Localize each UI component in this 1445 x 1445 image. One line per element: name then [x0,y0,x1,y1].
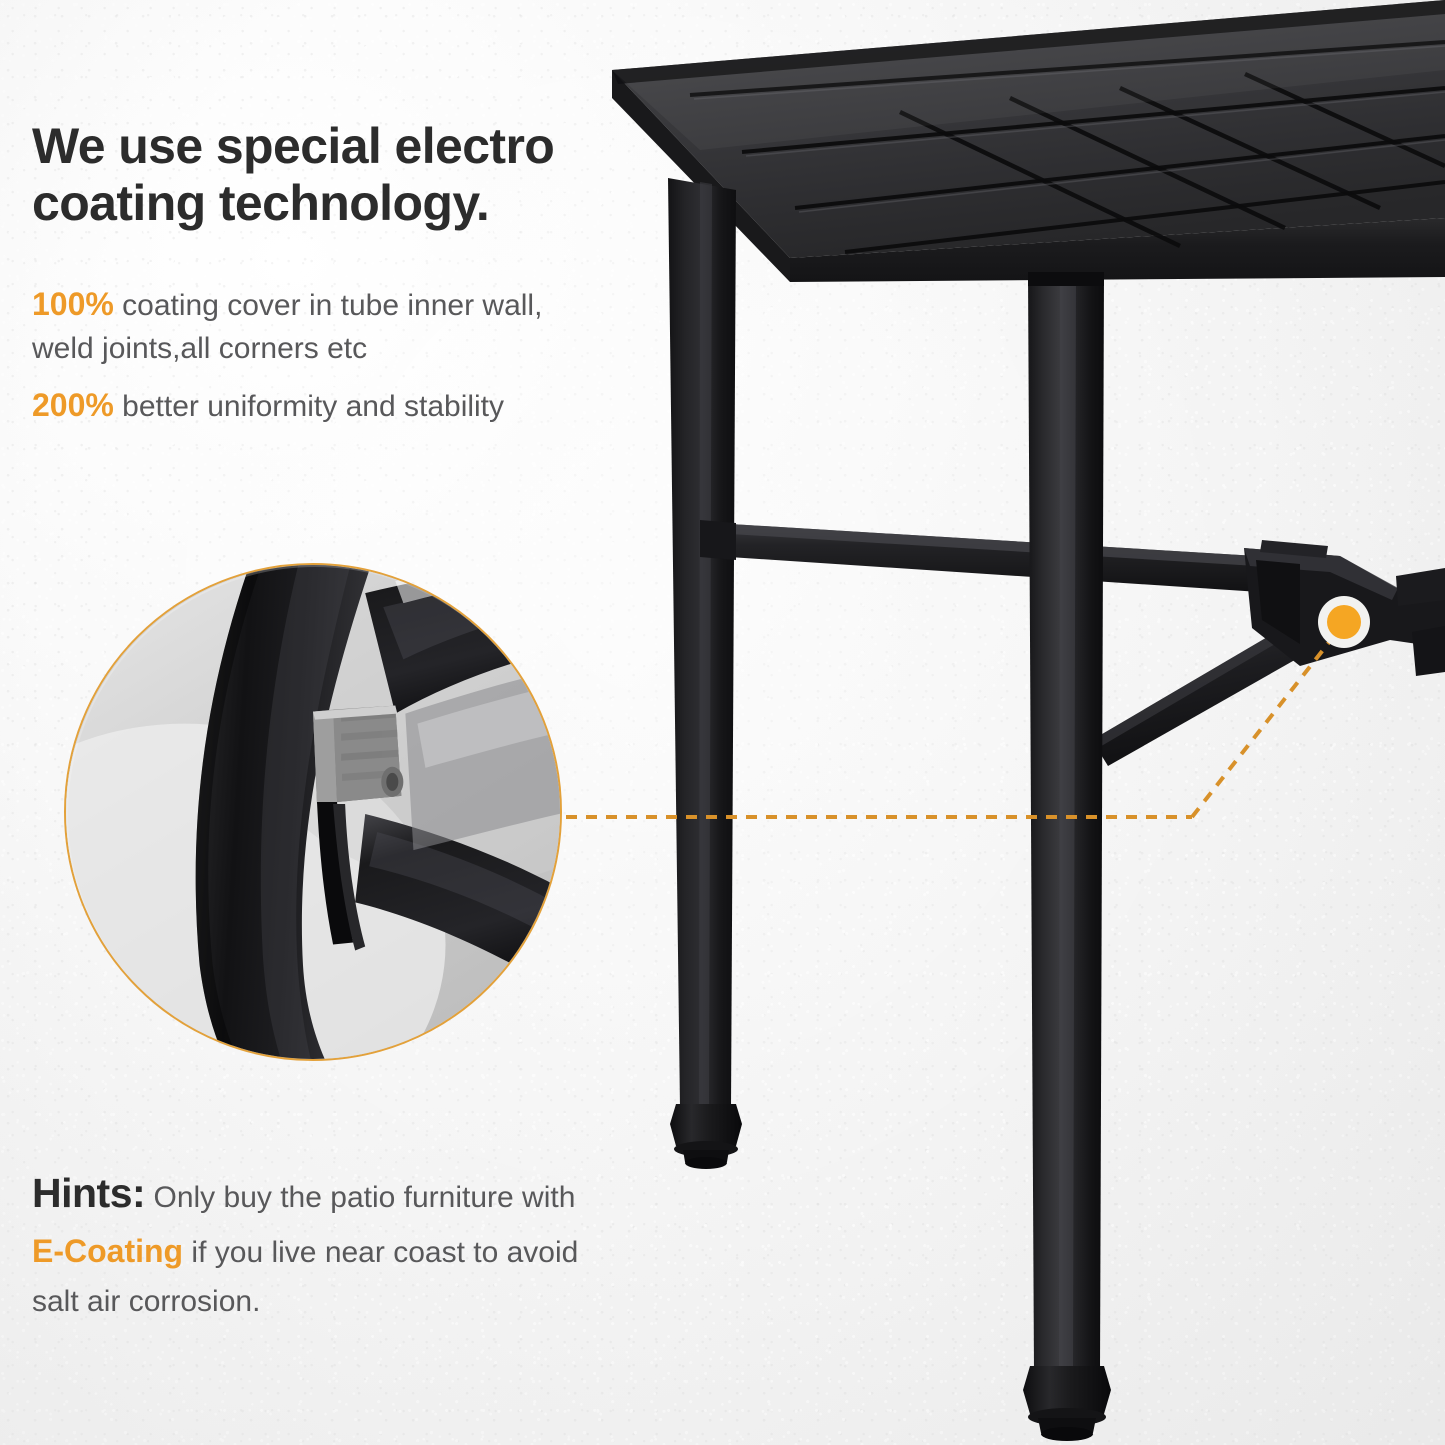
bullet-text: better uniformity and stability [114,390,504,423]
feature-bullets: 100% coating cover in tube inner wall, w… [32,282,612,442]
hints-block: Hints: Only buy the patio furniture with… [32,1160,612,1327]
page-title: We use special electro coating technolog… [32,118,632,231]
bullet-percent: 100% [32,286,114,322]
product-infographic: We use special electro coating technolog… [0,0,1445,1445]
bullet-item: 100% coating cover in tube inner wall, w… [32,282,612,370]
hints-text-before: Only buy the patio furniture with [145,1181,575,1214]
bullet-percent: 200% [32,387,114,423]
weld-joint-marker-dot [1318,596,1370,648]
bullet-item: 200% better uniformity and stability [32,383,612,429]
hints-label: Hints: [32,1170,145,1216]
hints-highlight: E-Coating [32,1233,183,1269]
